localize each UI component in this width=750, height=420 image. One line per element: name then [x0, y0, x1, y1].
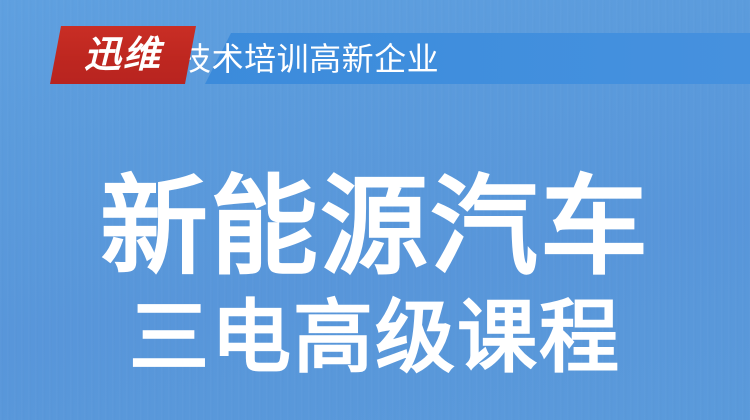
- page-title: 新能源汽车: [0, 168, 750, 286]
- page-subtitle: 三电高级课程: [0, 294, 750, 382]
- brand-logo-text: 迅维: [50, 26, 196, 84]
- promo-poster: 20年技术培训高新企业 迅维 新能源汽车 三电高级课程: [0, 0, 750, 420]
- tagline-text: 20年技术培训高新企业: [110, 34, 690, 84]
- poster-header: 20年技术培训高新企业 迅维: [0, 0, 750, 110]
